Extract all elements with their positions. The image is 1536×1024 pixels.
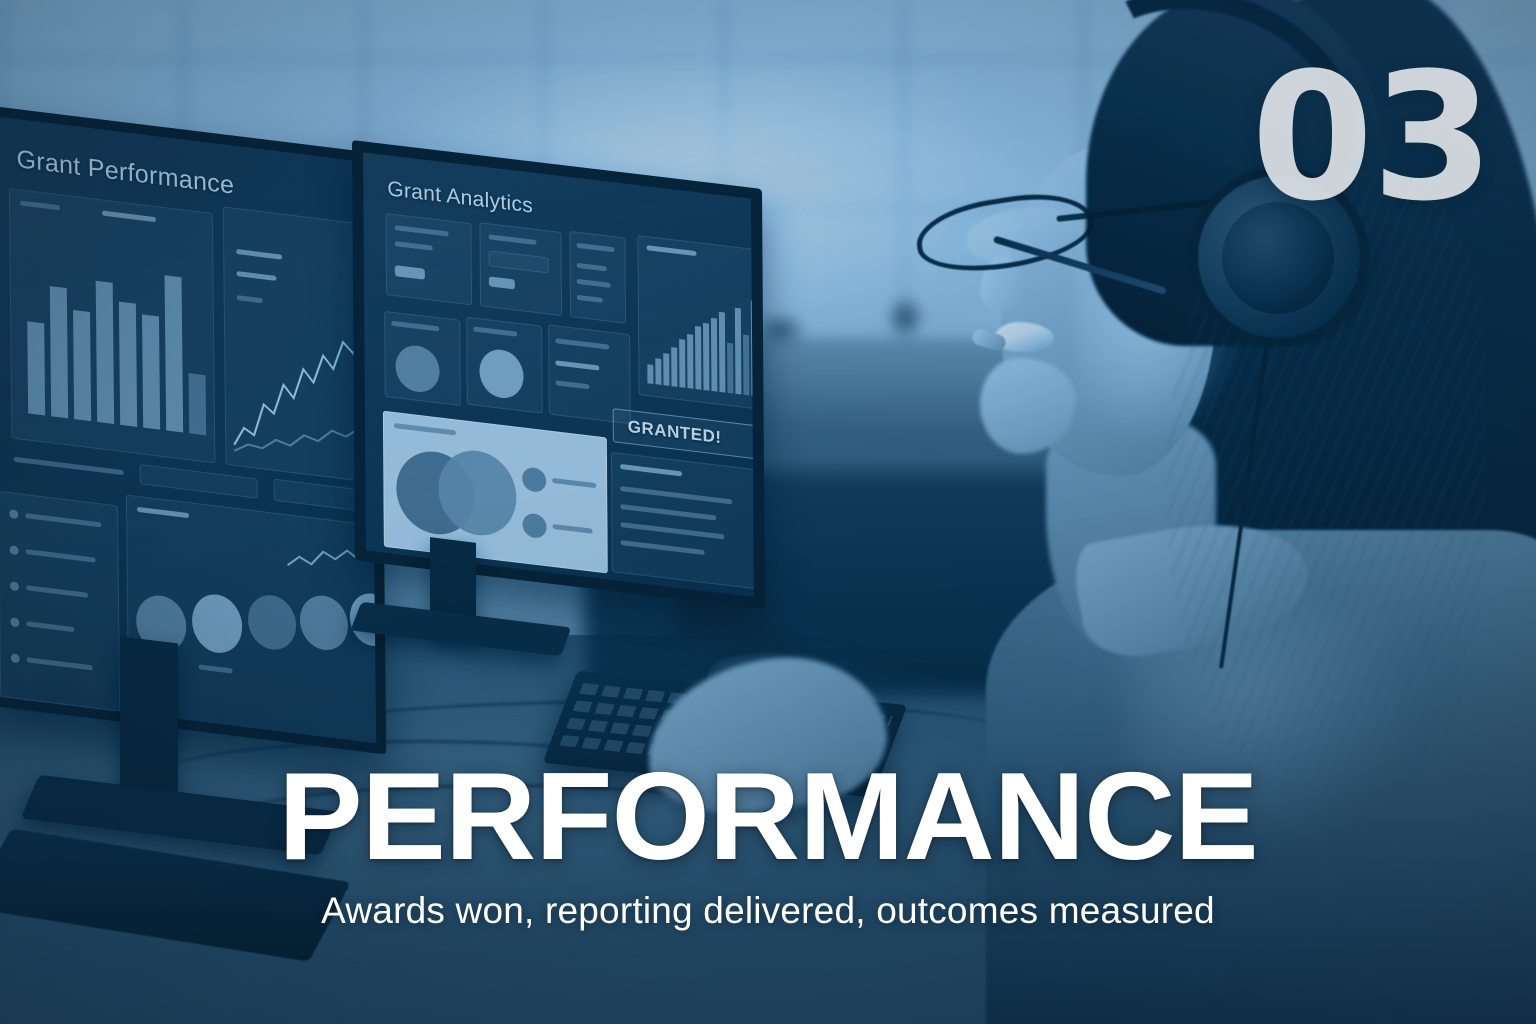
chart-bar xyxy=(189,373,207,435)
kpi-value xyxy=(395,265,425,280)
pie-chart xyxy=(300,593,349,653)
granted-badge: GRANTED! xyxy=(613,408,763,460)
monitor-right: Grant Analytics xyxy=(352,140,765,609)
chart-bar xyxy=(647,364,653,384)
donut-legend xyxy=(552,478,596,488)
chart-bar xyxy=(711,317,718,391)
kpi-caption xyxy=(577,295,603,303)
row-label xyxy=(27,657,93,670)
kpi-caption xyxy=(577,263,607,272)
chart-bar xyxy=(27,322,45,416)
chart-bar xyxy=(695,326,701,389)
headset-earcup-inner xyxy=(1222,202,1334,314)
kpi-list-panel xyxy=(0,491,120,712)
panel-label xyxy=(137,507,189,518)
table-row xyxy=(621,540,705,555)
series-legend xyxy=(236,271,276,281)
panel-label xyxy=(394,423,456,435)
panel-label xyxy=(473,326,517,336)
chart-bar xyxy=(165,275,184,432)
status-table-panel xyxy=(611,452,765,590)
kpi-caption xyxy=(577,243,615,253)
kpi-caption xyxy=(577,279,611,288)
row-bullet xyxy=(10,545,19,555)
chart-bar xyxy=(743,334,749,395)
chart-bar xyxy=(50,286,68,418)
chart-bar xyxy=(96,281,114,424)
row-bullet xyxy=(10,617,19,627)
column-chart-panel xyxy=(637,235,762,410)
panel-label xyxy=(20,200,60,210)
chart-bar xyxy=(679,340,685,388)
pie-mini-panel xyxy=(466,317,543,414)
table-row xyxy=(620,522,724,539)
chart-bar xyxy=(727,343,733,393)
pie-chart xyxy=(192,592,243,656)
row-bullet xyxy=(10,581,19,591)
kpi-caption xyxy=(489,234,537,245)
kpi-inner-box xyxy=(489,250,549,273)
donut-panel xyxy=(383,411,608,574)
page-title: PERFORMANCE xyxy=(0,760,1536,874)
chart-bar xyxy=(687,334,693,389)
pie-chart xyxy=(395,343,439,394)
chart-bar xyxy=(655,358,661,385)
panel-label xyxy=(391,321,439,332)
series-legend xyxy=(236,249,282,260)
page-subtitle: Awards won, reporting delivered, outcome… xyxy=(0,890,1536,932)
donut-icon xyxy=(522,512,546,539)
granted-label: GRANTED! xyxy=(628,417,722,448)
series-legend xyxy=(237,295,263,303)
section-divider-slide: Grant Performance xyxy=(0,0,1536,1024)
row-label xyxy=(26,621,74,632)
row-label xyxy=(26,585,88,598)
table-header xyxy=(620,464,682,476)
legend-row xyxy=(555,338,609,349)
donut-icon xyxy=(522,466,546,493)
kpi-caption xyxy=(395,225,449,236)
monitor-right-screen: Grant Analytics xyxy=(363,152,754,597)
monitor-left-screen: Grant Performance xyxy=(0,115,376,743)
pie-chart xyxy=(248,592,297,652)
row-bullet xyxy=(9,509,18,519)
table-row xyxy=(620,504,716,520)
chart-bar xyxy=(703,323,709,391)
pie-mini-panel xyxy=(384,311,461,406)
pie-chart xyxy=(479,347,523,400)
chart-bar xyxy=(663,353,669,386)
footer-label xyxy=(14,457,124,476)
row-label xyxy=(26,549,96,563)
row-bullet xyxy=(11,653,20,663)
chart-bar xyxy=(671,347,677,387)
monitor-left: Grant Performance xyxy=(0,104,386,754)
footer-chip xyxy=(140,464,258,499)
chart-bar xyxy=(751,301,758,397)
chart-bar xyxy=(142,315,160,430)
table-row xyxy=(620,486,732,504)
kpi-value xyxy=(489,276,515,289)
kpi-card xyxy=(385,213,472,305)
bar-chart-panel xyxy=(9,188,216,463)
kpi-card xyxy=(569,231,626,324)
row-label xyxy=(25,513,101,527)
chart-bar xyxy=(119,301,137,426)
pie-label xyxy=(199,664,233,673)
panel-label xyxy=(102,210,156,222)
kpi-caption xyxy=(395,241,433,251)
title-block: PERFORMANCE Awards won, reporting delive… xyxy=(0,760,1536,932)
donut-legend xyxy=(553,524,593,534)
legend-row xyxy=(555,360,599,370)
chart-bar xyxy=(719,312,726,393)
legend-row xyxy=(556,380,590,389)
chart-bar xyxy=(735,307,742,394)
panel-label xyxy=(646,245,696,256)
kpi-card xyxy=(479,222,562,316)
dashboard-title-right: Grant Analytics xyxy=(387,177,533,218)
chart-bar xyxy=(73,310,91,421)
